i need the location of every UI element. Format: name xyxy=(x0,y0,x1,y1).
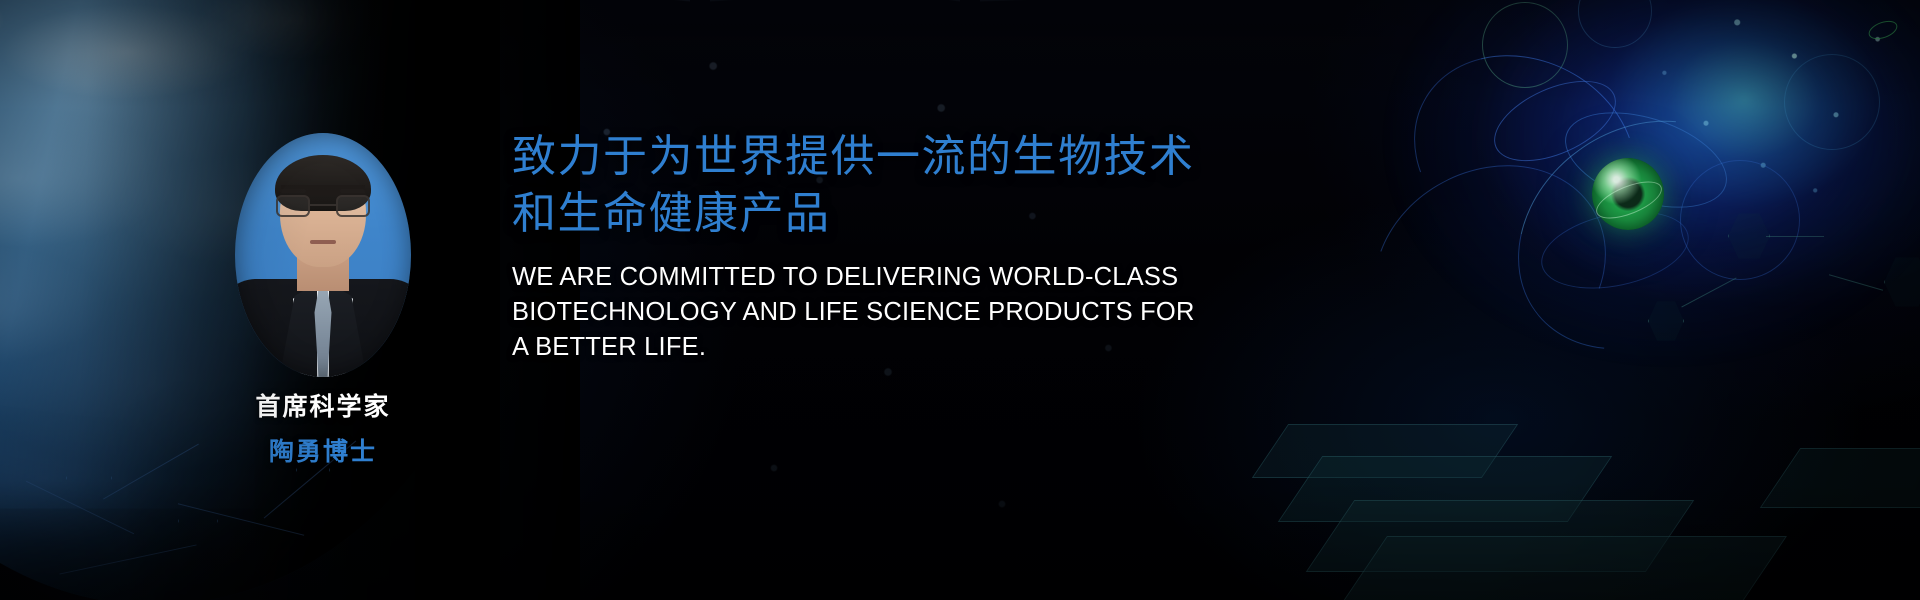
subcopy-line-2: BIOTECHNOLOGY AND LIFE SCIENCE PRODUCTS … xyxy=(512,295,1172,330)
subcopy-line-3: A BETTER LIFE. xyxy=(512,330,1172,365)
headline-line-2: 和生命健康产品 xyxy=(512,185,1172,242)
portrait-glasses-right xyxy=(336,195,370,217)
person-role: 首席科学家 xyxy=(235,392,411,423)
headline-line-1: 致力于为世界提供一流的生物技术 xyxy=(512,128,1172,185)
hero-banner: 首席科学家 陶勇博士 致力于为世界提供一流的生物技术 和生命健康产品 WE AR… xyxy=(0,0,1920,600)
portrait-glasses-left xyxy=(276,195,310,217)
person-caption: 首席科学家 陶勇博士 xyxy=(235,392,411,469)
portrait-mouth xyxy=(310,240,336,244)
hero-copy: 致力于为世界提供一流的生物技术 和生命健康产品 WE ARE COMMITTED… xyxy=(512,128,1172,365)
avatar xyxy=(235,133,411,377)
person-name: 陶勇博士 xyxy=(235,437,411,468)
subcopy-line-1: WE ARE COMMITTED TO DELIVERING WORLD-CLA… xyxy=(512,260,1172,295)
portrait-brow-left xyxy=(280,189,306,193)
subcopy: WE ARE COMMITTED TO DELIVERING WORLD-CLA… xyxy=(512,260,1172,365)
portrait-brow-right xyxy=(340,189,366,193)
portrait-glasses-bridge xyxy=(310,204,336,206)
